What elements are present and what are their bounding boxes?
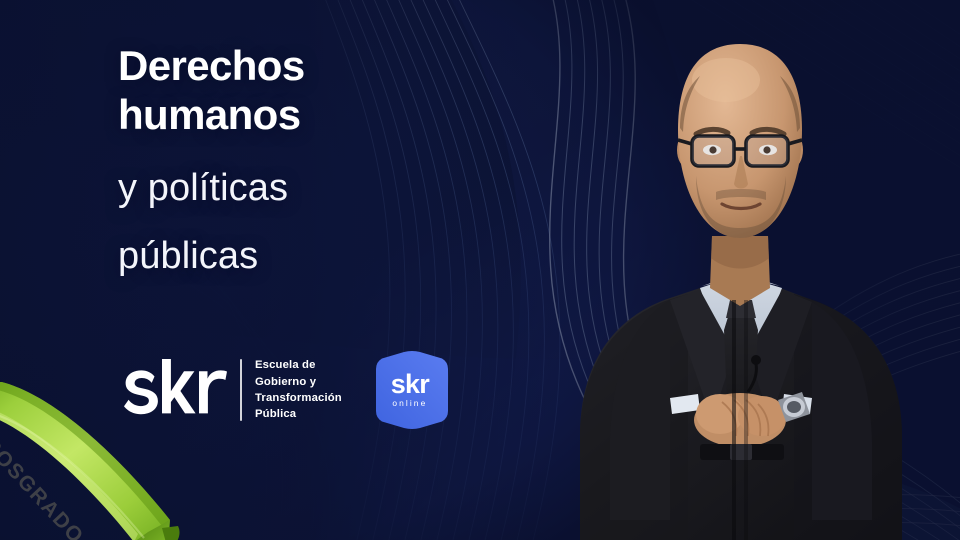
presenter-photo <box>520 0 960 540</box>
subtitle-line-1: y políticas <box>118 169 518 207</box>
title-block: Derechos humanos y políticas públicas <box>118 42 518 275</box>
page-title-line-1: Derechos <box>118 42 518 91</box>
subtitle-line-2: públicas <box>118 237 518 275</box>
posgrado-ribbon: POSGRADO <box>0 382 198 540</box>
ribbon-shape <box>0 382 198 540</box>
skr-online-badge: skr online <box>368 348 452 432</box>
page-title-line-2: humanos <box>118 91 518 140</box>
slide-canvas: Derechos humanos y políticas públicas Es… <box>0 0 960 540</box>
logo-divider <box>240 359 242 421</box>
hexagon-icon <box>368 348 452 432</box>
presenter-figure <box>520 0 960 540</box>
school-name-label: Escuela de Gobierno y Transformación Púb… <box>255 357 342 423</box>
